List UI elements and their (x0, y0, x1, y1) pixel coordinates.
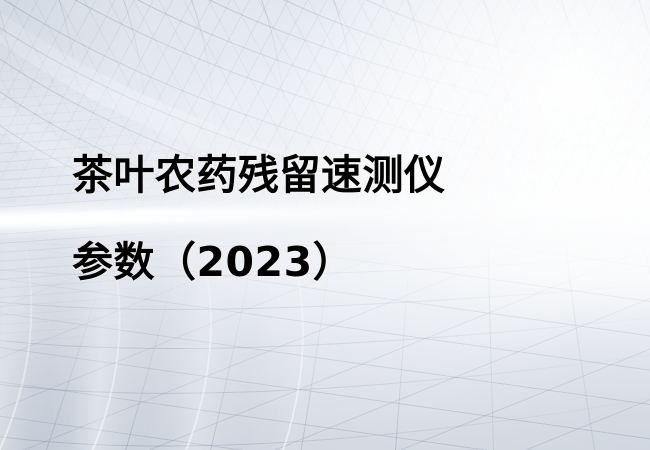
title-banner: 茶叶农药残留速测仪 参数（2023） (0, 0, 650, 450)
page-title-line-1: 茶叶农药残留速测仪 (72, 132, 612, 219)
title-block: 茶叶农药残留速测仪 参数（2023） (72, 132, 612, 306)
page-title-line-2: 参数（2023） (72, 219, 612, 306)
